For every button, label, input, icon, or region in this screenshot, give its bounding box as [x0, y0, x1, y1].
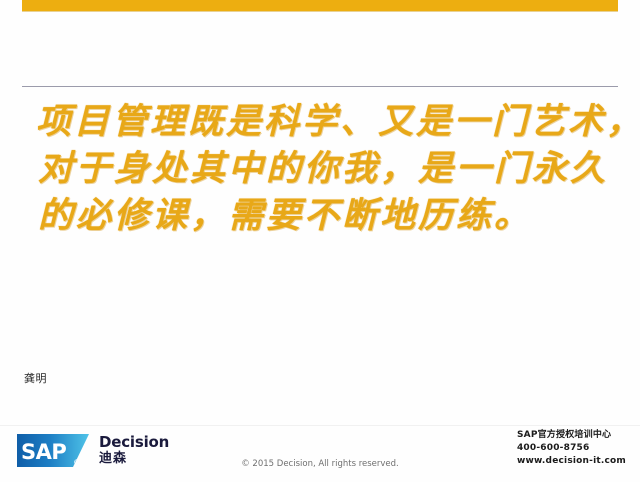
- slide-footer: SAP R Decision 迪森 © 2015 Decision, All r…: [0, 425, 640, 482]
- contact-line-website[interactable]: www.decision-it.com: [517, 455, 626, 468]
- slide-canvas: 项目管理既是科学、又是一门艺术， 对于身处其中的你我，是一门永久 的必修课，需要…: [0, 0, 640, 482]
- contact-line-phone: 400-600-8756: [517, 442, 626, 455]
- contact-block: SAP官方授权培训中心 400-600-8756 www.decision-it…: [517, 429, 626, 468]
- title-divider: [22, 86, 618, 87]
- top-accent-bar: [22, 0, 618, 11]
- quote-line-2: 对于身处其中的你我，是一门永久: [38, 145, 626, 192]
- quote-line-3: 的必修课，需要不断地历练。: [38, 192, 626, 239]
- quote-line-1: 项目管理既是科学、又是一门艺术，: [36, 98, 626, 145]
- quote-author: 龚明: [24, 370, 47, 386]
- quote-block: 项目管理既是科学、又是一门艺术， 对于身处其中的你我，是一门永久 的必修课，需要…: [36, 98, 626, 239]
- brand-name-en: Decision: [99, 435, 169, 451]
- contact-line-center-name: SAP官方授权培训中心: [517, 429, 626, 442]
- footer-divider: [0, 425, 640, 426]
